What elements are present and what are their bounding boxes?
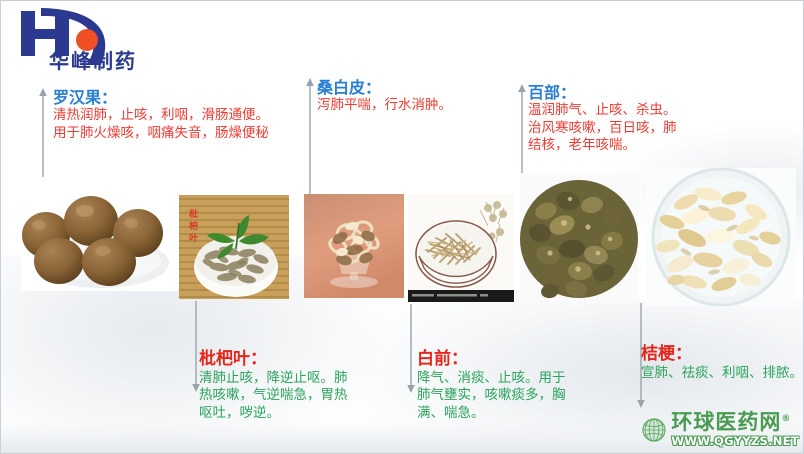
photo-baiqian [408,194,514,302]
herb-title-sangbaipi: 桑白皮： [317,79,517,97]
watermark-text: 环球医药网® WWW.QGYYZS.NET [671,412,799,449]
photo-sangbaipi [304,194,404,298]
herb-block-luohanguo: 罗汉果： 清热润肺，止咳，利咽，滑肠通便。 用于肺火燥咳，咽痛失音，肠燥便秘 [53,89,303,142]
herb-body-luohanguo: 清热润肺，止咳，利咽，滑肠通便。 用于肺火燥咳，咽痛失音，肠燥便秘 [53,107,303,142]
herb-title-baibu: 百部： [528,84,713,102]
photo-pipaye: 枇 杷 叶 [179,195,289,299]
herb-block-baiqian: 白前： 降气、消痰、止咳。用于 肺气壅实，咳嗽痰多，胸 满、喘急。 [417,350,607,422]
svg-text:枇: 枇 [189,208,198,220]
svg-text:叶: 叶 [189,232,198,244]
herb-title-baiqian: 白前： [417,350,607,370]
registered-mark: ® [781,414,791,424]
connector-luohanguo [37,87,49,181]
herb-block-baibu: 百部： 温润肺气、止咳、杀虫。 治风寒咳嗽，百日咳，肺 结核，老年咳喘。 [528,84,713,155]
watermark-url: WWW.QGYYZS.NET [671,435,799,449]
herb-body-baiqian: 降气、消痰、止咳。用于 肺气壅实，咳嗽痰多，胸 满、喘急。 [417,370,607,423]
herb-block-pipaye: 枇杷叶： 清肺止咳，降逆止呕。肺 热咳嗽，气逆喘急，胃热 呕吐，哕逆。 [199,350,384,422]
herb-body-pipaye: 清肺止咳，降逆止呕。肺 热咳嗽，气逆喘急，胃热 呕吐，哕逆。 [199,370,384,423]
connector-baibu [516,83,528,173]
globe-icon [641,411,668,449]
connector-sangbaipi [304,77,316,195]
connector-baiqian [405,304,417,394]
slide-canvas: 华峰制药 [0,0,804,454]
logo-company-name: 华峰制药 [49,45,137,74]
photo-baibu [520,173,638,303]
herb-body-sangbaipi: 泻肺平喘，行水消肿。 [317,97,517,115]
herb-title-luohanguo: 罗汉果： [53,89,303,107]
herb-block-jiegeng: 桔梗： 宣肺、祛痰、利咽、排脓。 [641,345,804,382]
herb-title-pipaye: 枇杷叶： [199,350,384,370]
company-logo: 华峰制药 [15,7,151,73]
photo-luohanguo [21,177,181,291]
herb-body-baibu: 温润肺气、止咳、杀虫。 治风寒咳嗽，百日咳，肺 结核，老年咳喘。 [528,102,713,155]
herb-block-sangbaipi: 桑白皮： 泻肺平喘，行水消肿。 [317,79,517,115]
watermark: 环球医药网® WWW.QGYYZS.NET [641,410,799,450]
herb-body-jiegeng: 宣肺、祛痰、利咽、排脓。 [641,365,804,383]
herb-title-jiegeng: 桔梗： [641,345,804,365]
svg-text:杷: 杷 [189,220,198,232]
photo-jiegeng [646,168,796,306]
watermark-site-name: 环球医药网® [671,412,799,433]
